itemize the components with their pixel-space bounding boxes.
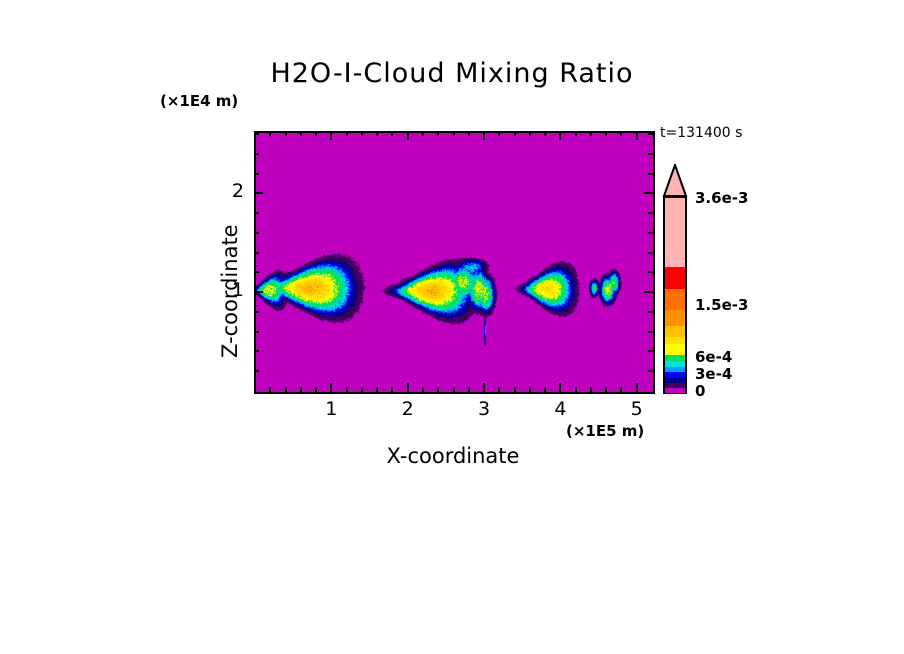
y-minor-tick-right [648, 252, 653, 254]
x-minor-tick [514, 387, 516, 392]
x-major-tick-top [483, 131, 485, 140]
x-minor-tick [498, 387, 500, 392]
colorbar-band [665, 388, 685, 393]
x-major-tick-top [636, 131, 638, 140]
y-minor-tick [254, 212, 259, 214]
x-minor-tick [361, 387, 363, 392]
y-minor-tick [254, 331, 259, 333]
x-tick-label: 4 [540, 398, 580, 420]
x-minor-tick [544, 387, 546, 392]
x-minor-tick [605, 387, 607, 392]
colorbar-tick-label: 3.6e-3 [695, 189, 748, 207]
y-tick-label: 1 [214, 279, 244, 301]
colorbar-tick-label: 1.5e-3 [695, 296, 748, 314]
x-minor-tick-top [376, 131, 378, 136]
colorbar-band [665, 289, 685, 310]
y-minor-tick-right [648, 350, 653, 352]
time-annotation: t=131400 s [660, 125, 742, 141]
y-minor-tick [254, 153, 259, 155]
colorbar-tick-label: 6e-4 [695, 348, 732, 366]
x-minor-tick [346, 387, 348, 392]
x-major-tick-top [330, 131, 332, 140]
colorbar-band [665, 310, 685, 327]
x-major-tick [559, 383, 561, 392]
colorbar-tick-label: 0 [695, 382, 705, 400]
x-major-tick [407, 383, 409, 392]
x-minor-tick-top [468, 131, 470, 136]
colorbar [663, 196, 687, 394]
y-minor-tick [254, 350, 259, 352]
x-minor-tick [285, 387, 287, 392]
y-minor-tick-right [648, 232, 653, 234]
x-minor-tick [468, 387, 470, 392]
contour-plot-area [254, 131, 655, 394]
x-minor-tick-top [620, 131, 622, 136]
colorbar-band [665, 267, 685, 290]
y-minor-tick-right [648, 212, 653, 214]
x-minor-tick [590, 387, 592, 392]
y-minor-tick [254, 370, 259, 372]
x-major-tick-top [559, 131, 561, 140]
y-minor-tick-right [648, 370, 653, 372]
y-tick-label: 2 [214, 180, 244, 202]
x-major-tick [636, 383, 638, 392]
x-major-tick [330, 383, 332, 392]
x-minor-tick-top [575, 131, 577, 136]
x-minor-tick [300, 387, 302, 392]
y-minor-tick-right [648, 331, 653, 333]
y-minor-tick [254, 133, 259, 135]
x-tick-label: 3 [464, 398, 504, 420]
x-minor-tick-top [605, 131, 607, 136]
colorbar-tick-label: 3e-4 [695, 365, 732, 383]
y-axis-units-label: (×1E4 m) [160, 92, 238, 110]
x-major-tick [483, 383, 485, 392]
x-minor-tick-top [529, 131, 531, 136]
x-minor-tick-top [453, 131, 455, 136]
y-major-tick [254, 291, 263, 293]
contour-field [256, 133, 653, 392]
x-minor-tick-top [361, 131, 363, 136]
x-minor-tick-top [346, 131, 348, 136]
x-major-tick-top [407, 131, 409, 140]
x-tick-label: 1 [311, 398, 351, 420]
x-minor-tick [437, 387, 439, 392]
y-minor-tick [254, 311, 259, 313]
x-minor-tick [315, 387, 317, 392]
x-minor-tick-top [285, 131, 287, 136]
y-minor-tick-right [648, 133, 653, 135]
chart-title: H2O-I-Cloud Mixing Ratio [0, 58, 904, 89]
x-minor-tick [269, 387, 271, 392]
x-minor-tick-top [300, 131, 302, 136]
y-minor-tick [254, 252, 259, 254]
y-minor-tick [254, 271, 259, 273]
x-minor-tick [620, 387, 622, 392]
y-minor-tick [254, 232, 259, 234]
x-minor-tick-top [269, 131, 271, 136]
x-axis-title: X-coordinate [254, 444, 652, 468]
x-minor-tick [391, 387, 393, 392]
colorbar-band [665, 344, 685, 355]
colorbar-overflow-arrow [661, 164, 689, 197]
x-minor-tick [422, 387, 424, 392]
y-minor-tick [254, 173, 259, 175]
colorbar-band [665, 326, 685, 337]
x-tick-label: 2 [388, 398, 428, 420]
y-major-tick-right [644, 291, 653, 293]
y-minor-tick-right [648, 311, 653, 313]
x-minor-tick-top [315, 131, 317, 136]
y-minor-tick-right [648, 153, 653, 155]
x-minor-tick [376, 387, 378, 392]
x-tick-label: 5 [617, 398, 657, 420]
x-minor-tick-top [514, 131, 516, 136]
x-minor-tick-top [422, 131, 424, 136]
y-minor-tick-right [648, 173, 653, 175]
x-axis-units-label: (×1E5 m) [566, 422, 644, 440]
x-minor-tick [529, 387, 531, 392]
x-minor-tick [453, 387, 455, 392]
y-major-tick-right [644, 192, 653, 194]
x-minor-tick-top [391, 131, 393, 136]
figure-canvas: H2O-I-Cloud Mixing Ratio (×1E4 m) (×1E5 … [0, 0, 904, 654]
x-minor-tick [575, 387, 577, 392]
x-minor-tick-top [544, 131, 546, 136]
colorbar-band [665, 198, 685, 267]
y-major-tick [254, 192, 263, 194]
x-minor-tick-top [590, 131, 592, 136]
x-minor-tick-top [437, 131, 439, 136]
x-minor-tick-top [498, 131, 500, 136]
y-minor-tick-right [648, 271, 653, 273]
